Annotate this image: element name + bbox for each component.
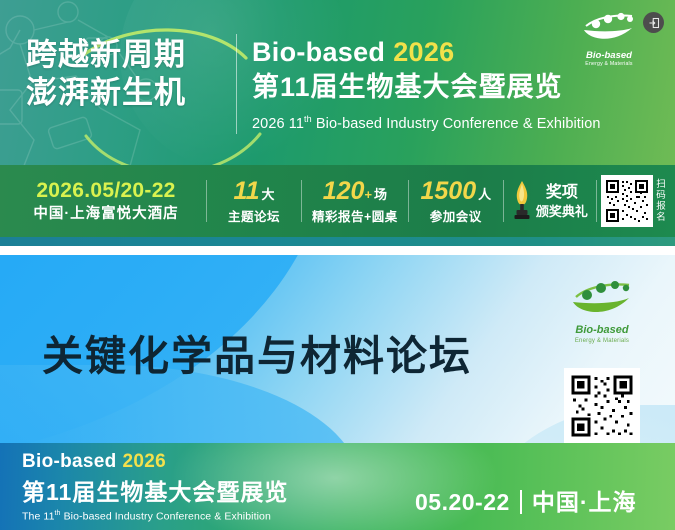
slogan-line-2: 澎湃新生机 [26, 74, 231, 112]
stat-unit: 场 [374, 187, 387, 202]
footer-meta: 05.20-22 中国·上海 [415, 488, 636, 516]
info-qr-label: 扫码报名 [656, 179, 667, 223]
header-title-en: 2026 11th Bio-based Industry Conference … [252, 109, 672, 134]
footer-brand: Bio-based2026 [22, 450, 288, 474]
stat-plus: + [364, 187, 372, 202]
stat-number: 11 [234, 177, 260, 205]
stats-group: 11大 主题论坛 120+场 精彩报告+圆桌 1500人 参加会议 [206, 173, 601, 229]
stat-divider [596, 180, 597, 222]
info-bar: 2026.05/20-22 中国·上海富悦大酒店 11大 主题论坛 120+场 … [0, 165, 675, 237]
slogan-line-1: 跨越新周期 [26, 36, 231, 74]
stat-item: 11大 主题论坛 [207, 177, 301, 226]
enter-arrow-icon [648, 17, 660, 29]
event-poster: 跨越新周期 澎湃新生机 Bio-based2026 第11届生物基大会暨展览 2… [0, 0, 675, 530]
qr-code-icon[interactable] [601, 175, 653, 227]
footer-city: 中国·上海 [532, 488, 637, 516]
stat-item: 120+场 精彩报告+圆桌 [302, 177, 408, 226]
stat-item: 1500人 参加会议 [409, 177, 503, 226]
header-brand-year: 2026 [393, 37, 454, 67]
stat-number-row: 11大 [234, 177, 275, 209]
stat-unit: 人 [478, 187, 491, 202]
stat-caption: 精彩报告+圆桌 [312, 209, 398, 226]
header-title-cn: 第11届生物基大会暨展览 [252, 69, 672, 105]
bio-based-leaf-logo-icon [580, 10, 638, 44]
award-title: 奖项 [546, 182, 578, 203]
stat-number: 1500 [420, 177, 476, 205]
award-block: 奖项 颁奖典礼 [504, 180, 596, 222]
white-gap [0, 246, 675, 255]
forum-title: 关键化学品与材料论坛 [42, 322, 472, 382]
header-logo-sub: Energy & Materials [578, 61, 640, 68]
header-logo-name: Bio-based [578, 50, 640, 61]
footer-separator [520, 490, 522, 514]
footer-brand-year: 2026 [123, 451, 166, 472]
award-text: 奖项 颁奖典礼 [536, 182, 588, 221]
enter-button[interactable] [643, 12, 664, 33]
forum-logo-sub: Energy & Materials [566, 337, 638, 345]
stat-caption: 主题论坛 [228, 209, 280, 226]
event-venue: 中国·上海富悦大酒店 [6, 204, 206, 224]
slogan-block: 跨越新周期 澎湃新生机 [26, 36, 231, 112]
header-divider [236, 34, 237, 134]
trophy-icon [512, 180, 532, 222]
teal-divider-strip [0, 237, 675, 246]
event-date: 2026.05/20-22 [6, 178, 206, 204]
header-logo: Bio-based Energy & Materials [578, 10, 640, 68]
info-qr-block[interactable]: 扫码报名 [601, 175, 675, 227]
footer-title-en: The 11th Bio-based Industry Conference &… [22, 507, 288, 524]
stat-caption: 参加会议 [430, 209, 482, 226]
stat-unit: 大 [261, 187, 274, 202]
footer-title-block: Bio-based2026 第11届生物基大会暨展览 The 11th Bio-… [22, 450, 288, 524]
award-subtitle: 颁奖典礼 [536, 203, 588, 221]
stat-number-row: 120+场 [323, 177, 387, 209]
bio-based-leaf-logo-icon [569, 278, 635, 318]
date-block: 2026.05/20-22 中国·上海富悦大酒店 [0, 178, 206, 224]
footer-title-cn: 第11届生物基大会暨展览 [22, 477, 288, 507]
footer-date: 05.20-22 [415, 488, 510, 516]
stat-number: 120 [323, 177, 365, 205]
header-banner: 跨越新周期 澎湃新生机 Bio-based2026 第11届生物基大会暨展览 2… [0, 0, 675, 165]
forum-logo: Bio-based Energy & Materials [566, 278, 638, 345]
stat-number-row: 1500人 [420, 177, 491, 209]
forum-logo-name: Bio-based [566, 324, 638, 337]
forum-qr-code-icon[interactable] [564, 368, 640, 444]
